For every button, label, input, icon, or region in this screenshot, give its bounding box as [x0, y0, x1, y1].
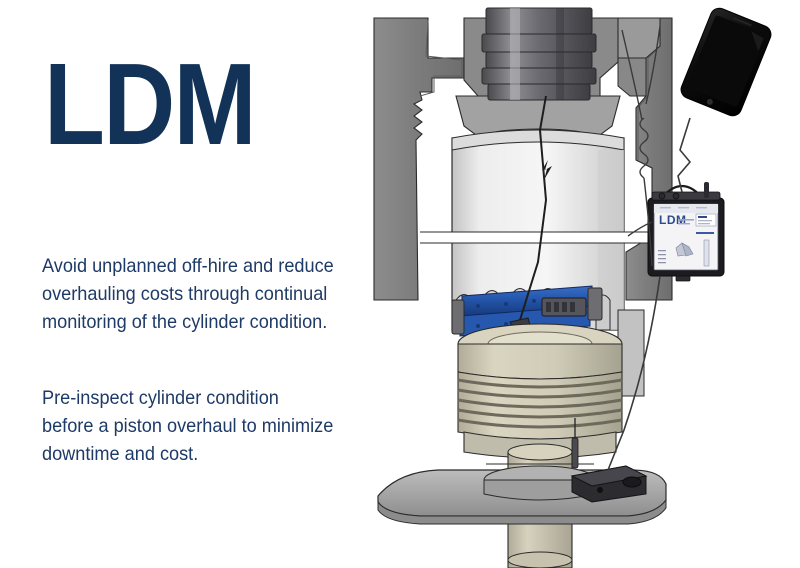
valve-stack — [482, 8, 596, 100]
ldm-handheld-unit: LDM — [648, 182, 724, 281]
engine-illustration: LDM — [360, 0, 800, 568]
body-paragraph-2: Pre-inspect cylinder condition before a … — [42, 384, 335, 468]
body-paragraph-1: Avoid unplanned off-hire and reduce over… — [42, 252, 335, 336]
page-title: LDM — [44, 46, 255, 162]
piston — [458, 324, 622, 458]
engine-cutaway-svg: LDM — [360, 0, 800, 568]
slide-root: LDM Avoid unplanned off-hire and reduce … — [0, 0, 800, 568]
text-column: LDM Avoid unplanned off-hire and reduce … — [0, 0, 372, 568]
tablet-device — [678, 6, 773, 119]
cable-tablet-to-unit — [678, 118, 690, 192]
